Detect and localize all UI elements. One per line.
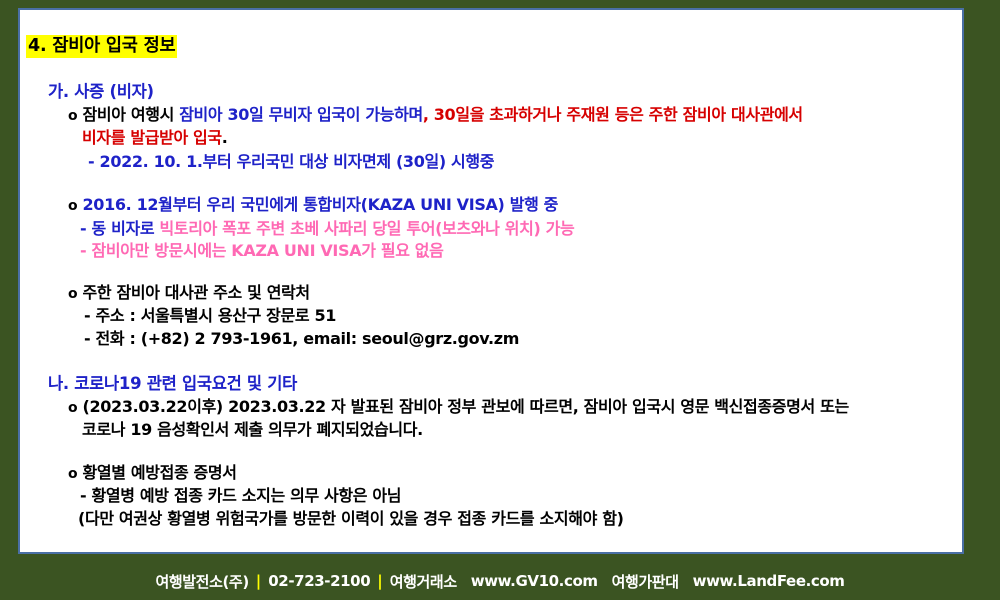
run-text: (다만 여권상 황열병 위험국가를 방문한 이력이 있을 경우 접종 카드를 소… [78,509,624,528]
footer-site-2[interactable]: www.LandFee.com [693,572,845,590]
run-text: 2016. 12월부터 우리 국민에게 통합비자(KAZA UNI VISA) … [83,195,559,214]
footer-bar: 여행발전소(주) | 02-723-2100 | 여행거래소 www.GV10.… [0,562,1000,600]
run-text: 동 비자로 [92,219,160,238]
note-yellow-fever-risk: (다만 여권상 황열병 위험국가를 방문한 이력이 있을 경우 접종 카드를 소… [20,507,960,530]
run-text: 2022. 10. 1.부터 우리국민 대상 비자면제 (30일) 시행중 [100,152,495,171]
dash-marker: - [80,219,86,238]
bullet-marker: o [68,198,77,214]
bullet-item-embassy: o 주한 잠비아 대사관 주소 및 연락처 [20,281,960,306]
section-heading-1: 가. 사증 (비자) [20,78,960,102]
bullet-item-visa-1-cont: 비자를 발급받아 입국. [20,126,960,149]
dash-marker: - [88,152,94,171]
run-text: 황열별 예방접종 증명서 [83,463,237,482]
bullet-item-kaza: o 2016. 12월부터 우리 국민에게 통합비자(KAZA UNI VISA… [20,193,960,218]
bullet-item-covid-cont: 코로나 19 음성확인서 제출 의무가 폐지되었습니다. [20,418,960,441]
run-text: 잠비아만 방문시에는 KAZA UNI VISA가 필요 없음 [92,241,444,260]
dash-item-zambia-only: - 잠비아만 방문시에는 KAZA UNI VISA가 필요 없음 [20,239,960,262]
bullet-marker: o [68,286,77,302]
run-text: 코로나 19 음성확인서 제출 의무가 폐지되었습니다. [82,420,423,439]
footer-phone: 02-723-2100 [268,572,370,590]
section-heading-2: 나. 코로나19 관련 입국요건 및 기타 [20,370,960,394]
bullet-item-visa-1: o 잠비아 여행시 잠비아 30일 무비자 입국이 가능하며, 30일을 초과하… [20,103,960,128]
dash-marker: - [80,241,86,260]
dash-item-phone-email: - 전화 : (+82) 2 793-1961, email: seoul@gr… [20,327,960,350]
dash-item-visa-waiver: - 2022. 10. 1.부터 우리국민 대상 비자면제 (30일) 시행중 [20,150,960,173]
run-text: 주소 : 서울특별시 용산구 장문로 51 [96,306,337,325]
content-card: 4. 잠비아 입국 정보 가. 사증 (비자) o 잠비아 여행시 잠비아 30… [18,8,964,554]
footer-separator-1: | [249,572,268,590]
bullet-item-yellow-fever: o 황열별 예방접종 증명서 [20,461,960,486]
run-text: , 30일을 초과하거나 주재원 등은 주한 잠비아 대사관에서 [423,105,803,124]
bullet-marker: o [68,466,77,482]
dash-item-chobe-safari: - 동 비자로 빅토리아 폭포 주변 초베 사파리 당일 투어(보츠와나 위치)… [20,217,960,240]
footer-brand-1: 여행거래소 [390,571,457,592]
page-title: 4. 잠비아 입국 정보 [26,32,177,57]
section-heading-1-label: 가. 사증 (비자) [48,82,154,101]
footer-site-1[interactable]: www.GV10.com [471,572,598,590]
run-text: 잠비아 여행시 [83,105,180,124]
run-text: 황열병 예방 접종 카드 소지는 의무 사항은 아님 [92,486,402,505]
dash-item-yellow-fever-card: - 황열병 예방 접종 카드 소지는 의무 사항은 아님 [20,484,960,507]
slide-root: 4. 잠비아 입국 정보 가. 사증 (비자) o 잠비아 여행시 잠비아 30… [0,0,1000,600]
page-title-text: 4. 잠비아 입국 정보 [26,35,177,58]
run-text: 비자를 발급받아 입국 [82,128,222,147]
run-text: 잠비아 30일 무비자 입국이 가능하며 [179,105,423,124]
dash-marker: - [84,329,90,348]
run-text: . [222,128,228,147]
bullet-marker: o [68,400,77,416]
run-text: 전화 : (+82) 2 793-1961, email: seoul@grz.… [96,329,520,348]
footer-company: 여행발전소(주) [155,571,248,592]
bullet-item-covid: o (2023.03.22이후) 2023.03.22 자 발표된 잠비아 정부… [20,395,960,420]
section-heading-2-label: 나. 코로나19 관련 입국요건 및 기타 [48,374,297,393]
dash-marker: - [84,306,90,325]
run-text: 주한 잠비아 대사관 주소 및 연락처 [83,283,310,302]
run-text: (2023.03.22이후) 2023.03.22 자 발표된 잠비아 정부 관… [83,397,849,416]
footer-brand-2: 여행가판대 [612,571,679,592]
content-inner: 4. 잠비아 입국 정보 가. 사증 (비자) o 잠비아 여행시 잠비아 30… [20,10,962,552]
bullet-marker: o [68,108,77,124]
footer-separator-2: | [370,572,389,590]
run-text: 빅토리아 폭포 주변 초베 사파리 당일 투어(보츠와나 위치) 가능 [159,219,574,238]
dash-marker: - [80,486,86,505]
dash-item-address: - 주소 : 서울특별시 용산구 장문로 51 [20,304,960,327]
